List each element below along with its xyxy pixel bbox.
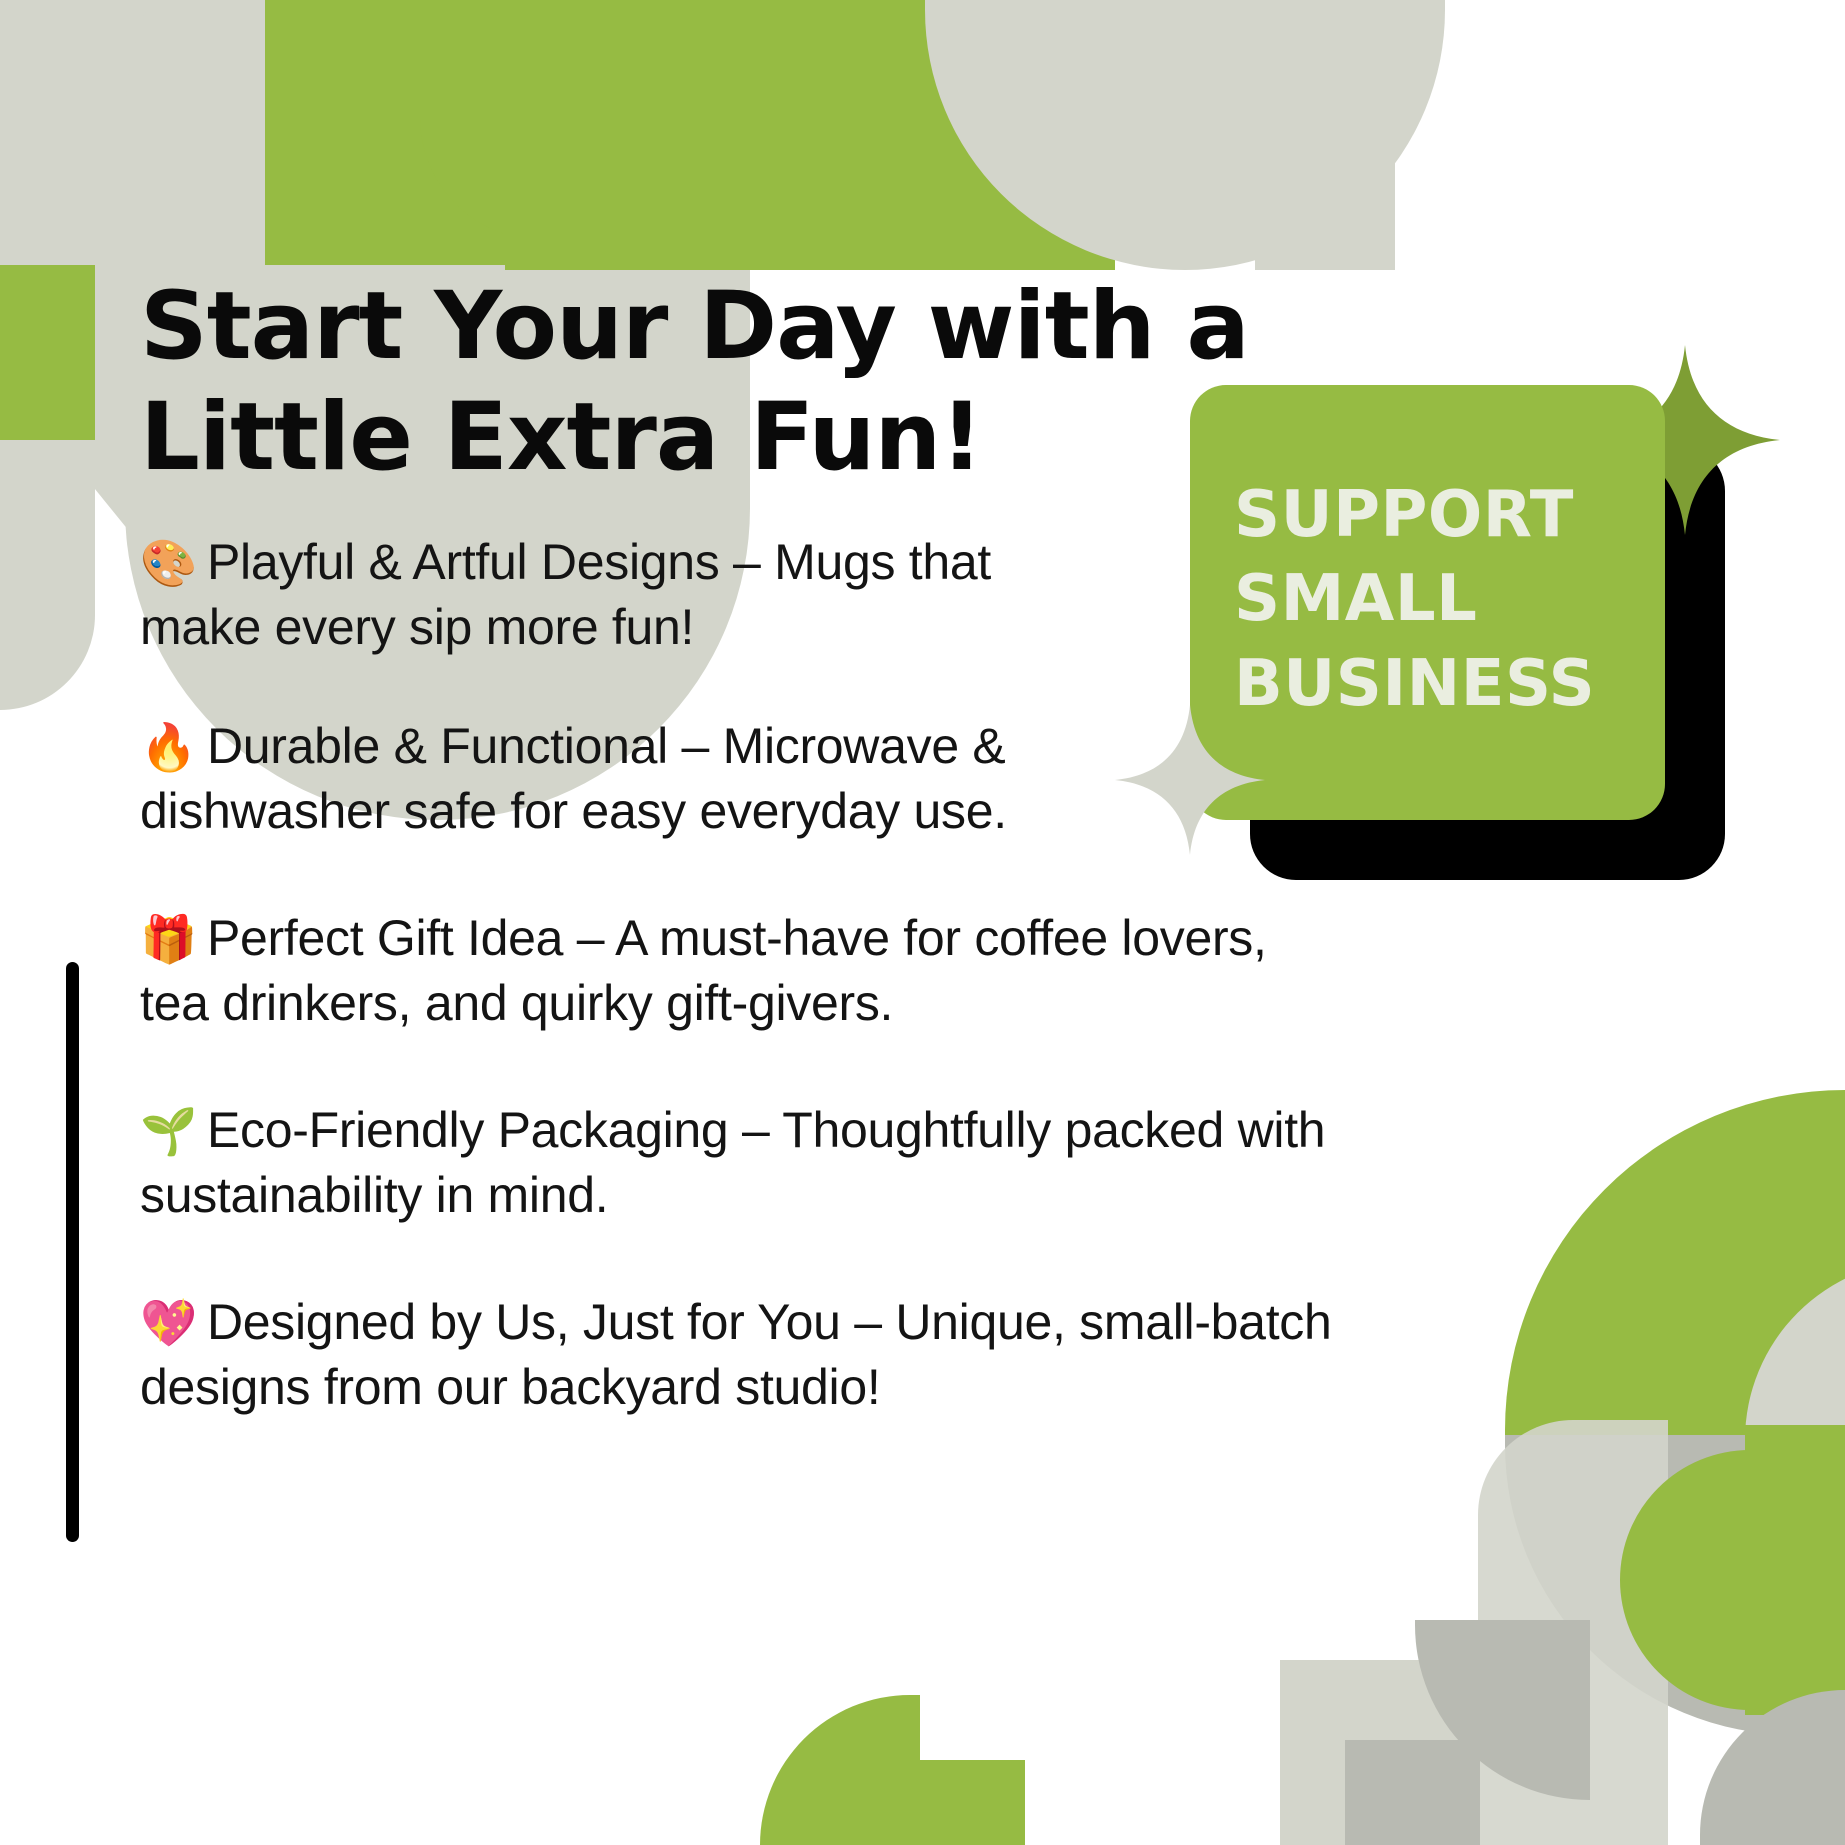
list-item: 🌱Eco-Friendly Packaging – Thoughtfully p… — [140, 1098, 1400, 1228]
artist-palette-emoji: 🎨 — [140, 536, 197, 590]
badge-line-2: SMALL — [1234, 557, 1665, 641]
poster-content: Start Your Day with a Little Extra Fun! … — [0, 0, 1845, 1845]
gift-emoji: 🎁 — [140, 912, 197, 966]
badge-line-3: BUSINESS — [1234, 642, 1665, 726]
list-item: 🔥Durable & Functional – Microwave & dish… — [140, 714, 1020, 844]
list-item-text: Perfect Gift Idea – A must-have for coff… — [140, 910, 1267, 1031]
promo-poster: Start Your Day with a Little Extra Fun! … — [0, 0, 1845, 1845]
badge-line-1: SUPPORT — [1234, 473, 1665, 557]
list-item-text: Designed by Us, Just for You – Unique, s… — [140, 1294, 1332, 1415]
list-item-text: Playful & Artful Designs – Mugs that mak… — [140, 534, 991, 655]
page-title: Start Your Day with a Little Extra Fun! — [140, 272, 1260, 494]
fire-emoji: 🔥 — [140, 720, 197, 774]
list-item-text: Durable & Functional – Microwave & dishw… — [140, 718, 1007, 839]
list-item: 💖Designed by Us, Just for You – Unique, … — [140, 1290, 1390, 1420]
seedling-emoji: 🌱 — [140, 1104, 197, 1158]
sparkling-heart-emoji: 💖 — [140, 1296, 197, 1350]
list-item-text: Eco-Friendly Packaging – Thoughtfully pa… — [140, 1102, 1325, 1223]
list-item: 🎨Playful & Artful Designs – Mugs that ma… — [140, 530, 1040, 660]
list-item: 🎁Perfect Gift Idea – A must-have for cof… — [140, 906, 1320, 1036]
support-small-business-badge: SUPPORT SMALL BUSINESS — [1190, 385, 1750, 885]
